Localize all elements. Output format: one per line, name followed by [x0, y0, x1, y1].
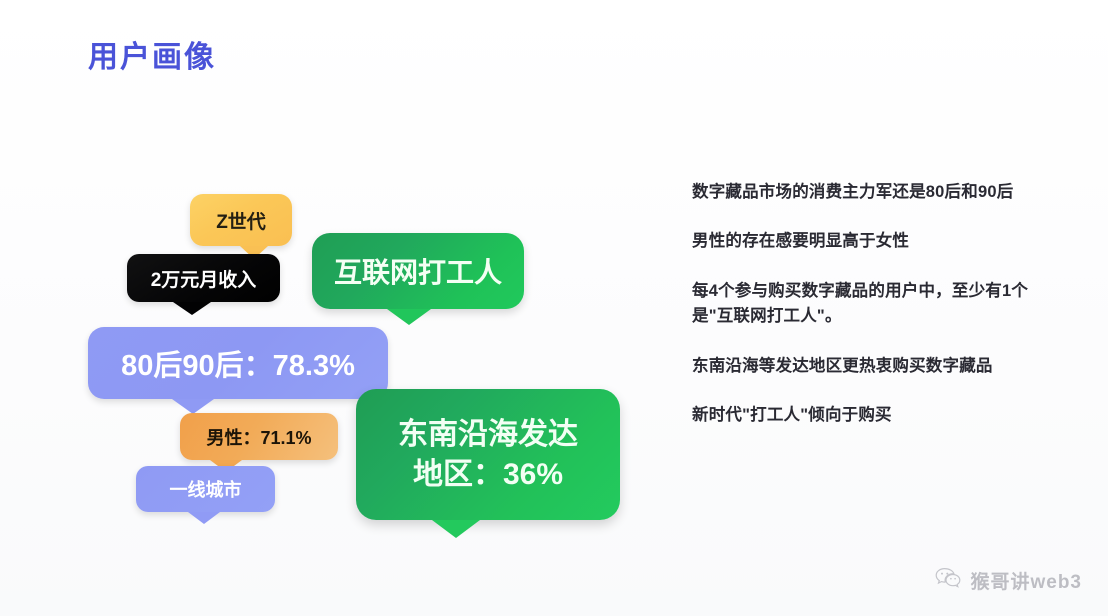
bubble-tier1-city: 一线城市 [136, 466, 275, 512]
bubble-z-generation-label: Z世代 [190, 207, 292, 234]
bubble-post80-post90-label: 80后90后：78.3% [88, 342, 388, 384]
bubble-internet-worker-label: 互联网打工人 [312, 251, 524, 291]
bubble-male-ratio: 男性：71.1% [180, 413, 338, 460]
bubble-internet-worker: 互联网打工人 [312, 233, 524, 309]
bubble-southeast-coastal-label: 东南沿海发达 地区：36% [356, 415, 620, 494]
insight-item: 男性的存在感要明显高于女性 [692, 229, 1048, 254]
page-title: 用户画像 [88, 40, 216, 76]
wechat-icon [935, 567, 961, 594]
insights-list: 数字藏品市场的消费主力军还是80后和90后 男性的存在感要明显高于女性 每4个参… [692, 163, 1048, 428]
bubble-monthly-income-label: 2万元月收入 [127, 265, 280, 292]
watermark: 猴哥讲web3 [935, 567, 1082, 594]
bubble-male-ratio-label: 男性：71.1% [180, 424, 338, 450]
bubble-tier1-city-label: 一线城市 [136, 476, 275, 502]
slide-canvas: 用户画像 Z世代 2万元月收入 互联网打工人 80后90后：78.3% 男性：7… [0, 0, 1108, 616]
bubble-post80-post90: 80后90后：78.3% [88, 327, 388, 399]
bubble-monthly-income: 2万元月收入 [127, 254, 280, 302]
bubble-southeast-coastal: 东南沿海发达 地区：36% [356, 389, 620, 520]
insight-item: 新时代"打工人"倾向于购买 [692, 403, 1048, 428]
watermark-label: 猴哥讲web3 [970, 567, 1082, 594]
bubble-z-generation: Z世代 [190, 194, 292, 246]
insight-item: 每4个参与购买数字藏品的用户中，至少有1个是"互联网打工人"。 [692, 279, 1048, 329]
insight-item: 数字藏品市场的消费主力军还是80后和90后 [692, 180, 1048, 205]
insight-item: 东南沿海等发达地区更热衷购买数字藏品 [692, 354, 1048, 379]
